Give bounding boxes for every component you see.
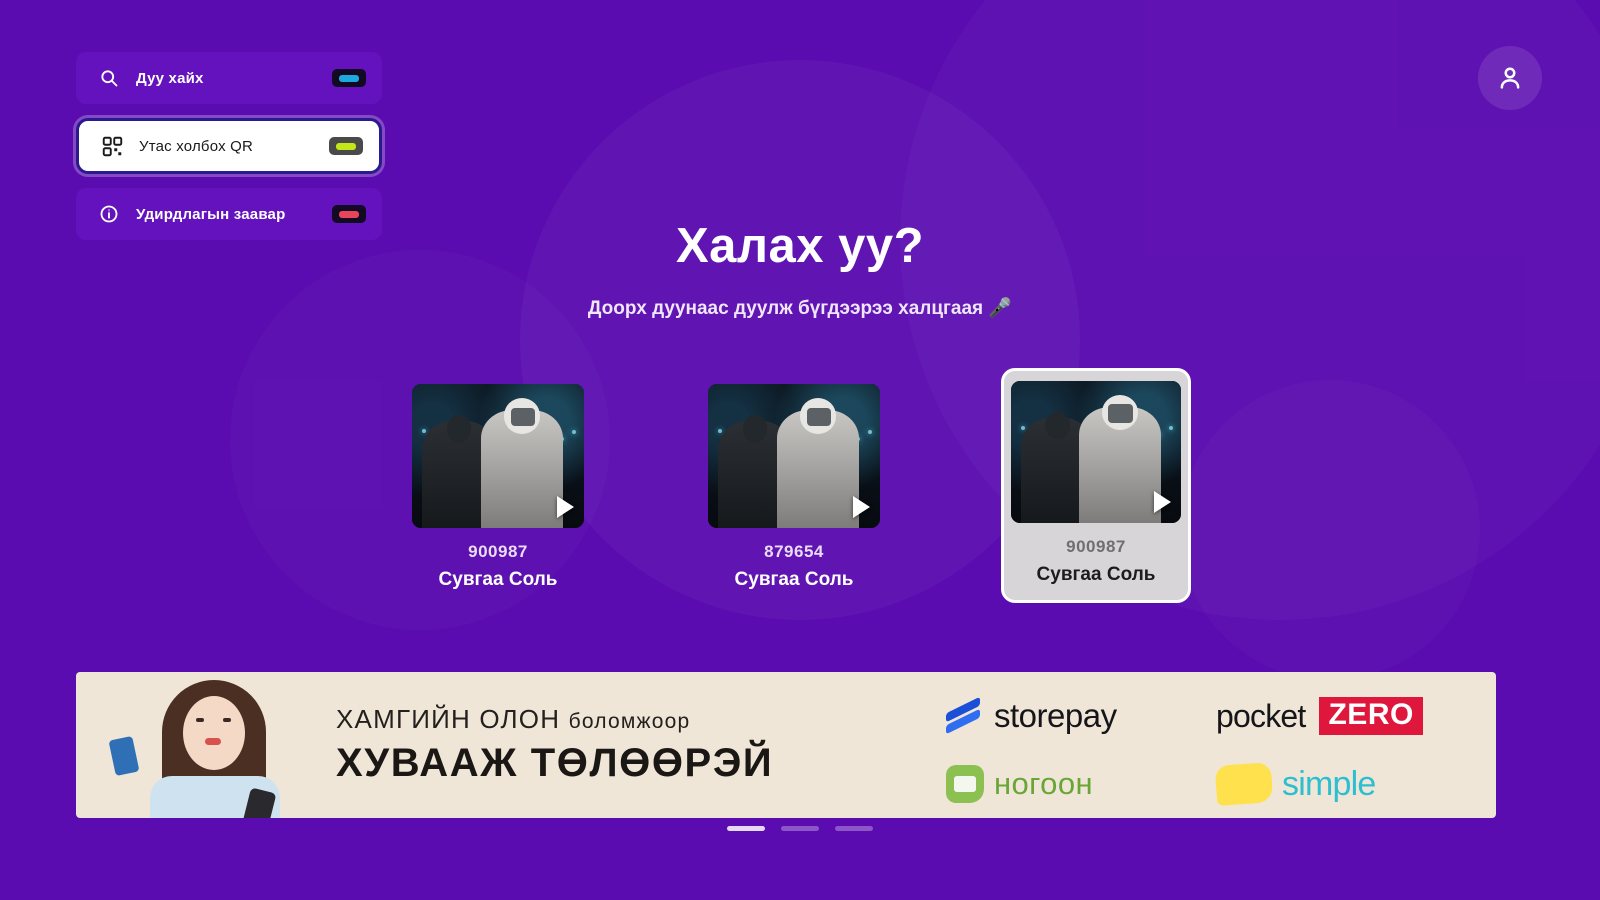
carousel-dot[interactable]: [727, 826, 765, 831]
song-code: 900987: [1066, 537, 1126, 557]
sidebar-menu: Дуу хайх Утас холбох QR: [76, 52, 382, 240]
sidebar-item-search-song[interactable]: Дуу хайх: [76, 52, 382, 104]
hero-section: Халах уу? Доорх дуунаас дуулж бүгдээрээ …: [0, 218, 1600, 320]
pocket-logo-text: pocket: [1216, 698, 1305, 735]
sidebar-item-label: Утас холбох QR: [139, 138, 329, 155]
simple-logo: simple: [1216, 764, 1476, 804]
sidebar-item-connect-phone-qr[interactable]: Утас холбох QR: [76, 118, 382, 174]
song-title: Сувгаа Соль: [1037, 564, 1156, 586]
remote-key-badge-blue: [332, 69, 366, 87]
banner-model-image: [76, 672, 326, 818]
banner-copy: ХАМГИЙН ОЛОН боломжоор ХУВААЖ ТӨЛӨӨРЭЙ: [326, 672, 936, 818]
song-thumbnail: [708, 384, 880, 528]
song-thumbnail: [412, 384, 584, 528]
nogoon-logo-text: ногоон: [994, 766, 1093, 802]
play-icon: [1154, 491, 1171, 513]
account-button[interactable]: [1478, 46, 1542, 110]
song-list: 900987 Сувгаа Соль 879654 Сувгаа Соль: [409, 376, 1191, 603]
banner-headline-main: ХУВААЖ ТӨЛӨӨРЭЙ: [336, 741, 936, 786]
song-card[interactable]: 900987 Сувгаа Соль: [409, 376, 587, 601]
song-card-selected[interactable]: 900987 Сувгаа Соль: [1001, 368, 1191, 603]
page-subtitle: Доорх дуунаас дуулж бүгдээрээ халцгаая 🎤: [0, 296, 1600, 320]
nogoon-logo: ногоон: [946, 765, 1206, 803]
sidebar-item-label: Дуу хайх: [136, 70, 332, 87]
storepay-logo: storepay: [946, 697, 1206, 735]
user-avatar-icon: [1495, 63, 1525, 93]
song-title: Сувгаа Соль: [439, 569, 558, 591]
song-thumbnail: [1011, 381, 1181, 523]
song-title: Сувгаа Соль: [735, 569, 854, 591]
page-title: Халах уу?: [0, 218, 1600, 274]
song-card[interactable]: 879654 Сувгаа Соль: [705, 376, 883, 601]
pocket-zero-logo: pocket ZERO: [1216, 697, 1476, 735]
carousel-dot[interactable]: [781, 826, 819, 831]
banner-headline-top: ХАМГИЙН ОЛОН: [336, 704, 560, 734]
search-icon: [96, 65, 122, 91]
song-code: 879654: [764, 542, 824, 562]
carousel-indicators: [727, 826, 873, 831]
remote-key-badge-yellow: [329, 137, 363, 155]
simple-mark-icon: [1215, 762, 1274, 806]
play-icon: [557, 496, 574, 518]
decorative-circle: [1180, 380, 1480, 680]
zero-badge: ZERO: [1319, 697, 1422, 735]
banner-headline-top-small: боломжоор: [569, 710, 691, 733]
storepay-logo-text: storepay: [994, 697, 1117, 735]
storepay-mark-icon: [946, 701, 984, 731]
qr-code-icon: [99, 133, 125, 159]
play-icon: [853, 496, 870, 518]
song-code: 900987: [468, 542, 528, 562]
nogoon-mark-icon: [946, 765, 984, 803]
simple-logo-text: simple: [1282, 765, 1375, 804]
promo-banner[interactable]: ХАМГИЙН ОЛОН боломжоор ХУВААЖ ТӨЛӨӨРЭЙ s…: [76, 672, 1496, 818]
carousel-dot[interactable]: [835, 826, 873, 831]
banner-partner-logos: storepay pocket ZERO ногоон simple: [936, 672, 1496, 818]
